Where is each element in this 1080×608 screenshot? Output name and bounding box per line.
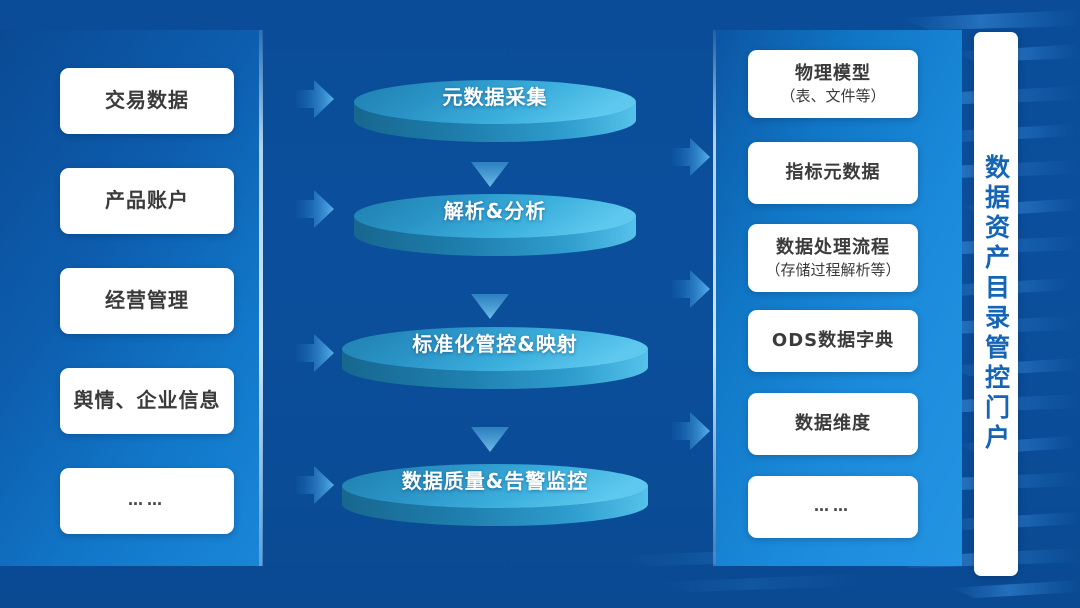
stage-cylinder-1[interactable]: 元数据采集 — [352, 78, 638, 144]
source-card-4-label: 舆情、企业信息 — [74, 388, 221, 414]
source-card-3-label: 经营管理 — [105, 288, 189, 314]
output-card-5[interactable]: 数据维度 — [748, 393, 918, 455]
output-card-3-title: 数据处理流程 — [776, 236, 890, 259]
output-card-6-title: …… — [814, 497, 852, 516]
diagram-canvas: 交易数据 产品账户 经营管理 舆情、企业信息 …… — [0, 0, 1080, 608]
arrow-right-icon-r2 — [668, 266, 712, 312]
left-panel-divider — [259, 30, 263, 566]
output-card-2[interactable]: 指标元数据 — [748, 142, 918, 204]
source-card-2-label: 产品账户 — [105, 188, 189, 214]
arrow-down-icon-3 — [465, 425, 515, 455]
portal-bar[interactable]: 数据资产目录管控门户 — [974, 32, 1018, 576]
source-card-5-label: …… — [128, 491, 166, 510]
arrow-right-icon-l1 — [292, 76, 336, 122]
output-card-3-subtitle: （存储过程解析等） — [765, 261, 900, 280]
portal-label: 数据资产目录管控门户 — [984, 154, 1009, 454]
output-card-1-title: 物理模型 — [795, 62, 871, 85]
output-card-4[interactable]: ODS数据字典 — [748, 310, 918, 372]
arrow-right-icon-l3 — [292, 330, 336, 376]
source-card-4[interactable]: 舆情、企业信息 — [60, 368, 234, 434]
arrow-right-icon-l4 — [292, 462, 336, 508]
output-card-4-title: ODS数据字典 — [772, 329, 894, 352]
source-card-1[interactable]: 交易数据 — [60, 68, 234, 134]
output-card-3[interactable]: 数据处理流程 （存储过程解析等） — [748, 224, 918, 292]
output-card-1-subtitle: （表、文件等） — [780, 87, 885, 106]
output-card-6[interactable]: …… — [748, 476, 918, 538]
stage-cylinder-3[interactable]: 标准化管控&映射 — [340, 325, 650, 391]
arrow-right-icon-l2 — [292, 186, 336, 232]
arrow-down-icon-2 — [465, 292, 515, 322]
arrow-right-icon-r1 — [668, 134, 712, 180]
arrow-right-icon-r3 — [668, 408, 712, 454]
output-card-1[interactable]: 物理模型 （表、文件等） — [748, 50, 918, 118]
output-card-2-title: 指标元数据 — [786, 161, 881, 184]
stage-cylinder-2[interactable]: 解析&分析 — [352, 192, 638, 258]
stage-cylinder-4[interactable]: 数据质量&告警监控 — [340, 462, 650, 528]
source-card-1-label: 交易数据 — [105, 88, 189, 114]
output-card-5-title: 数据维度 — [795, 412, 871, 435]
source-card-3[interactable]: 经营管理 — [60, 268, 234, 334]
source-card-5[interactable]: …… — [60, 468, 234, 534]
arrow-down-icon-1 — [465, 160, 515, 190]
source-card-2[interactable]: 产品账户 — [60, 168, 234, 234]
